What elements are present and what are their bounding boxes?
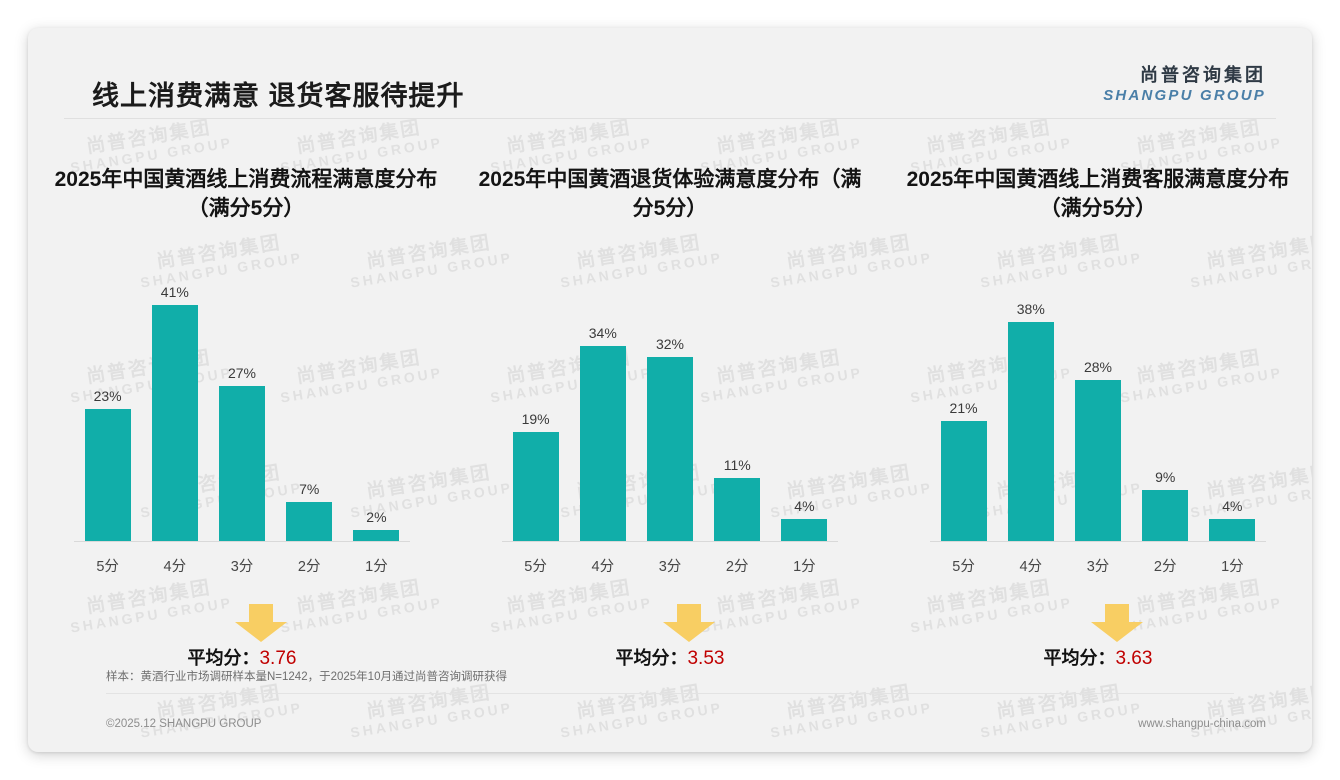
- axis-baseline: [74, 541, 410, 542]
- bar[interactable]: [1008, 322, 1054, 542]
- chart-title: 2025年中国黄酒线上消费客服满意度分布（满分5分）: [896, 146, 1300, 232]
- bar-slot[interactable]: 9%: [1132, 282, 1199, 542]
- x-axis-tick-label: 2分: [704, 542, 771, 576]
- bar-value-label: 2%: [366, 510, 386, 524]
- slide: 尚普咨询集团SHANGPU GROUP尚普咨询集团SHANGPU GROUP尚普…: [28, 28, 1312, 752]
- bar-slot[interactable]: 28%: [1064, 282, 1131, 542]
- bar[interactable]: [714, 478, 760, 542]
- x-axis-tick-label: 5分: [502, 542, 569, 576]
- logo-chinese-text: 尚普咨询集团: [1103, 64, 1266, 87]
- x-axis-tick-label: 1分: [1199, 542, 1266, 576]
- bar-slot[interactable]: 27%: [208, 282, 275, 542]
- bar-slot[interactable]: 7%: [276, 282, 343, 542]
- x-axis-tick-label: 1分: [343, 542, 410, 576]
- bar-value-label: 11%: [724, 458, 751, 472]
- bar-value-label: 9%: [1155, 470, 1175, 484]
- bar[interactable]: [513, 432, 559, 542]
- bar-slot[interactable]: 38%: [997, 282, 1064, 542]
- bar-group: 19%34%32%11%4%: [502, 282, 838, 542]
- bar[interactable]: [941, 421, 987, 542]
- average-score-value: 3.76: [259, 648, 296, 669]
- average-score-prefix: 平均分：: [187, 648, 259, 668]
- bar[interactable]: [1142, 490, 1188, 542]
- chart-plot-area: 19%34%32%11%4%: [502, 282, 838, 542]
- chart-plot-area: 21%38%28%9%4%: [930, 282, 1266, 542]
- bar-group: 21%38%28%9%4%: [930, 282, 1266, 542]
- x-axis-tick-label: 3分: [208, 542, 275, 576]
- x-axis-labels: 5分4分3分2分1分: [502, 542, 838, 576]
- average-score-prefix: 平均分：: [1043, 648, 1115, 668]
- bar-value-label: 23%: [94, 389, 122, 403]
- bar-slot[interactable]: 23%: [74, 282, 141, 542]
- average-score-value: 3.63: [1115, 648, 1152, 669]
- x-axis-labels: 5分4分3分2分1分: [74, 542, 410, 576]
- logo-english-text: SHANGPU GROUP: [1103, 87, 1266, 105]
- bar[interactable]: [85, 409, 131, 542]
- bar-value-label: 28%: [1084, 360, 1112, 374]
- x-axis-tick-label: 5分: [930, 542, 997, 576]
- bar-group: 23%41%27%7%2%: [74, 282, 410, 542]
- chart-panel-1: 2025年中国黄酒线上消费流程满意度分布（满分5分）23%41%27%7%2%5…: [28, 146, 456, 680]
- x-axis-tick-label: 4分: [997, 542, 1064, 576]
- x-axis-tick-label: 3分: [1064, 542, 1131, 576]
- bar-slot[interactable]: 41%: [141, 282, 208, 542]
- chart-plot-area: 23%41%27%7%2%: [74, 282, 410, 542]
- x-axis-tick-label: 4分: [141, 542, 208, 576]
- bar-slot[interactable]: 19%: [502, 282, 569, 542]
- x-axis-tick-label: 2分: [1132, 542, 1199, 576]
- bar-slot[interactable]: 4%: [1199, 282, 1266, 542]
- bar-slot[interactable]: 2%: [343, 282, 410, 542]
- chart-title: 2025年中国黄酒退货体验满意度分布（满分5分）: [468, 146, 872, 232]
- bar-value-label: 21%: [950, 401, 978, 415]
- axis-baseline: [502, 541, 838, 542]
- x-axis-tick-label: 1分: [771, 542, 838, 576]
- down-arrow-icon: [662, 602, 716, 649]
- bar[interactable]: [152, 305, 198, 542]
- average-score-prefix: 平均分：: [615, 648, 687, 668]
- chart-title: 2025年中国黄酒线上消费流程满意度分布（满分5分）: [40, 146, 444, 232]
- slide-footer: ©2025.12 SHANGPU GROUP www.shangpu-china…: [106, 718, 1266, 730]
- bar-slot[interactable]: 4%: [771, 282, 838, 542]
- sample-footnote: 样本：黄酒行业市场调研样本量N=1242，于2025年10月通过尚普咨询调研获得: [106, 668, 1234, 694]
- header-divider: [64, 118, 1276, 119]
- bar[interactable]: [580, 346, 626, 542]
- bar[interactable]: [647, 357, 693, 542]
- chart-panel-2: 2025年中国黄酒退货体验满意度分布（满分5分）19%34%32%11%4%5分…: [456, 146, 884, 680]
- bar-value-label: 27%: [228, 366, 256, 380]
- bar-slot[interactable]: 34%: [569, 282, 636, 542]
- x-axis-tick-label: 5分: [74, 542, 141, 576]
- bar[interactable]: [219, 386, 265, 542]
- bar-value-label: 4%: [794, 499, 814, 513]
- average-score-value: 3.53: [687, 648, 724, 669]
- x-axis-tick-label: 3分: [636, 542, 703, 576]
- bar-slot[interactable]: 11%: [704, 282, 771, 542]
- bar-value-label: 32%: [656, 337, 684, 351]
- chart-panel-3: 2025年中国黄酒线上消费客服满意度分布（满分5分）21%38%28%9%4%5…: [884, 146, 1312, 680]
- axis-baseline: [930, 541, 1266, 542]
- bar-value-label: 41%: [161, 285, 189, 299]
- bar-value-label: 19%: [522, 412, 550, 426]
- page-title: 线上消费满意 退货客服待提升: [92, 74, 465, 113]
- brand-logo: 尚普咨询集团 SHANGPU GROUP: [1103, 64, 1266, 105]
- bar-slot[interactable]: 32%: [636, 282, 703, 542]
- down-arrow-icon: [234, 602, 288, 649]
- bar[interactable]: [781, 519, 827, 542]
- down-arrow-icon: [1090, 602, 1144, 649]
- bar[interactable]: [1209, 519, 1255, 542]
- bar[interactable]: [1075, 380, 1121, 542]
- bar[interactable]: [286, 502, 332, 542]
- slide-header: 线上消费满意 退货客服待提升 尚普咨询集团 SHANGPU GROUP: [28, 28, 1312, 118]
- bar-value-label: 7%: [299, 482, 319, 496]
- copyright-text: ©2025.12 SHANGPU GROUP: [106, 718, 261, 730]
- website-link[interactable]: www.shangpu-china.com: [1138, 718, 1266, 730]
- average-score-text: 平均分：3.63: [1043, 644, 1152, 670]
- x-axis-tick-label: 2分: [276, 542, 343, 576]
- average-score-text: 平均分：3.53: [615, 644, 724, 670]
- x-axis-labels: 5分4分3分2分1分: [930, 542, 1266, 576]
- bar-value-label: 38%: [1017, 302, 1045, 316]
- bar-value-label: 4%: [1222, 499, 1242, 513]
- x-axis-tick-label: 4分: [569, 542, 636, 576]
- bar-value-label: 34%: [589, 326, 617, 340]
- charts-container: 2025年中国黄酒线上消费流程满意度分布（满分5分）23%41%27%7%2%5…: [28, 146, 1312, 680]
- average-score-text: 平均分：3.76: [187, 644, 296, 670]
- bar-slot[interactable]: 21%: [930, 282, 997, 542]
